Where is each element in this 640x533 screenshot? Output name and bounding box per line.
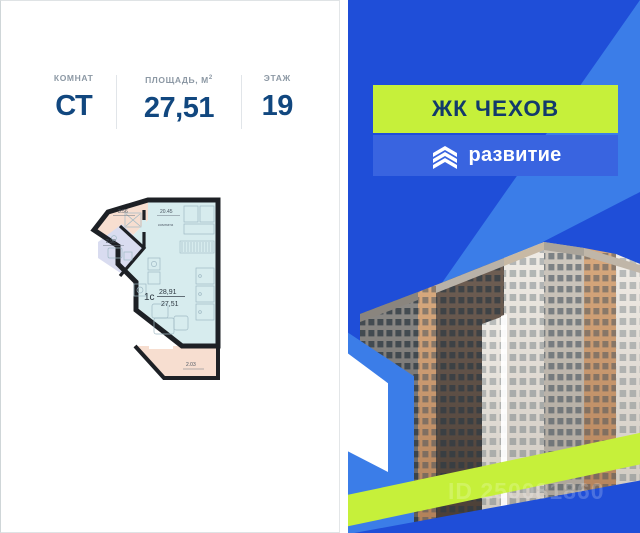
- watermark-id: ID 250081860: [448, 478, 605, 505]
- room-area-bathroom: 2.90: [106, 239, 116, 245]
- chevrons-up-icon: [430, 143, 460, 169]
- floorplan-svg: 3.56 20.45 комната 2.90 2.03 1с 28,91 27…: [86, 186, 256, 386]
- stat-rooms-label: КОМНАТ: [54, 73, 94, 83]
- room-area-main: 20.45: [160, 209, 173, 215]
- stat-floor: ЭТАЖ 19: [242, 73, 314, 131]
- stat-area-label-text: ПЛОЩАДЬ, М: [145, 75, 209, 85]
- stat-area-value: 27,51: [144, 92, 214, 124]
- complex-name-badge: ЖК ЧЕХОВ: [373, 85, 618, 133]
- stat-rooms-value: ст: [55, 90, 92, 122]
- developer-badge: развитие: [373, 135, 618, 176]
- stat-rooms: КОМНАТ ст: [31, 73, 116, 131]
- stat-floor-label: ЭТАЖ: [264, 73, 291, 83]
- listing-card-image: КОМНАТ ст ПЛОЩАДЬ, М2 27,51 ЭТАЖ 19: [0, 0, 640, 533]
- developer-name-text: развитие: [469, 144, 562, 167]
- complex-name-text: ЖК ЧЕХОВ: [432, 96, 559, 122]
- stat-area-label-sup: 2: [209, 75, 213, 81]
- apartment-code: 1с: [144, 292, 155, 303]
- floorplan-card: КОМНАТ ст ПЛОЩАДЬ, М2 27,51 ЭТАЖ 19: [0, 0, 340, 533]
- stat-area: ПЛОЩАДЬ, М2 27,51: [117, 73, 240, 131]
- apartment-area-living: 27,51: [161, 301, 179, 308]
- room-area-balcony: 2.03: [186, 362, 196, 368]
- promo-panel: ЖК ЧЕХОВ развитие ID 250081860: [348, 0, 640, 533]
- room-caption-main: комната: [158, 222, 174, 227]
- room-area-corridor: 3.56: [118, 209, 128, 215]
- apartment-stats-bar: КОМНАТ ст ПЛОЩАДЬ, М2 27,51 ЭТАЖ 19: [31, 73, 313, 131]
- stat-area-label: ПЛОЩАДЬ, М2: [145, 73, 213, 85]
- floorplan-drawing: 3.56 20.45 комната 2.90 2.03 1с 28,91 27…: [1, 186, 341, 411]
- stat-floor-value: 19: [262, 90, 293, 122]
- apartment-area-total: 28,91: [159, 289, 177, 296]
